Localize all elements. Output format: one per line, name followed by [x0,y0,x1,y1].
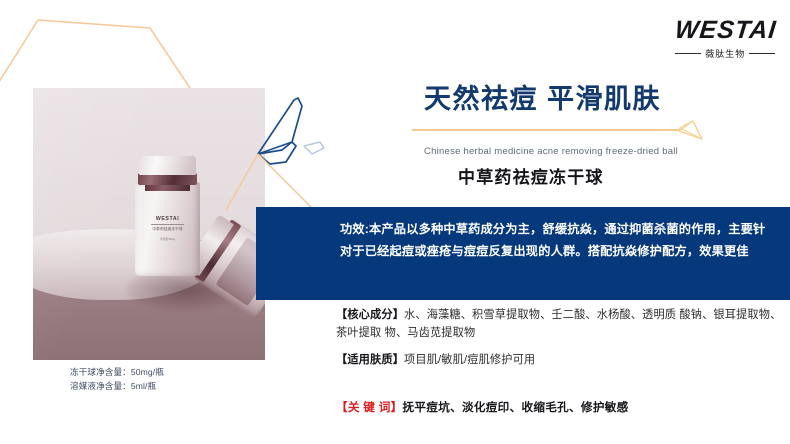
product-photo: WESTAI 中草药祛痘冻干球 净含量 50mg [33,88,265,360]
leaf-motif-svg [252,84,362,204]
leaf-motif-icon [252,84,362,204]
headline-rule-row [424,125,764,137]
logo-rule-right [749,53,775,54]
logo-subtitle-text: 薇肽生物 [705,47,745,60]
spec-block: 冻干球净含量：50mg/瓶 溶媒液净含量：5ml/瓶 [70,366,164,394]
headline-rule [412,129,680,131]
photo-highlight-overlay [33,88,265,360]
skin-type-label: 【适用肤质】 [336,354,404,366]
spec-line-1: 冻干球净含量：50mg/瓶 [70,366,164,380]
ingredients-label: 【核心成分】 [336,309,404,321]
efficacy-panel: 功效:本产品以多种中草药成分为主，舒缓抗焱，通过抑菌杀菌的作用，主要针对于已经起… [256,207,790,300]
gold-triangle-icon [676,119,710,150]
skin-type-row: 【适用肤质】项目肌/敏肌/痘肌修护可用 [336,351,788,369]
headline-block: 天然祛痘 平滑肌肤 Chinese herbal medicine acne r… [424,84,764,188]
spec-line-2: 溶媒液净含量：5ml/瓶 [70,380,164,394]
headline-english: Chinese herbal medicine acne removing fr… [424,146,764,157]
keywords-value: 抚平痘坑、淡化痘印、收缩毛孔、修护敏感 [403,401,629,414]
keywords-row: 【关 键 词】抚平痘坑、淡化痘印、收缩毛孔、修护敏感 [336,399,788,415]
gold-triangle-svg [676,119,710,145]
logo-rule-left [675,53,701,54]
efficacy-text: 功效:本产品以多种中草药成分为主，舒缓抗焱，通过抑菌杀菌的作用，主要针对于已经起… [340,218,770,262]
ingredients-row: 【核心成分】水、海藻糖、积雪草提取物、壬二酸、水杨酸、透明质 酸钠、银耳提取物、… [336,306,788,342]
headline-product-name: 中草药祛痘冻干球 [458,163,764,188]
headline-title: 天然祛痘 平滑肌肤 [424,84,764,115]
logo-subtitle: 薇肽生物 [675,47,776,60]
info-block: 【核心成分】水、海藻糖、积雪草提取物、壬二酸、水杨酸、透明质 酸钠、银耳提取物、… [336,306,788,369]
logo-wordmark: WESTAI [673,16,777,45]
brand-logo: WESTAI 薇肽生物 [675,16,776,60]
product-marketing-slide: WESTAI 中草药祛痘冻干球 净含量 50mg WESTAI 薇肽生物 天然祛… [0,0,790,444]
keywords-label: 【关 键 词】 [336,401,403,414]
skin-type-value: 项目肌/敏肌/痘肌修护可用 [404,354,535,366]
